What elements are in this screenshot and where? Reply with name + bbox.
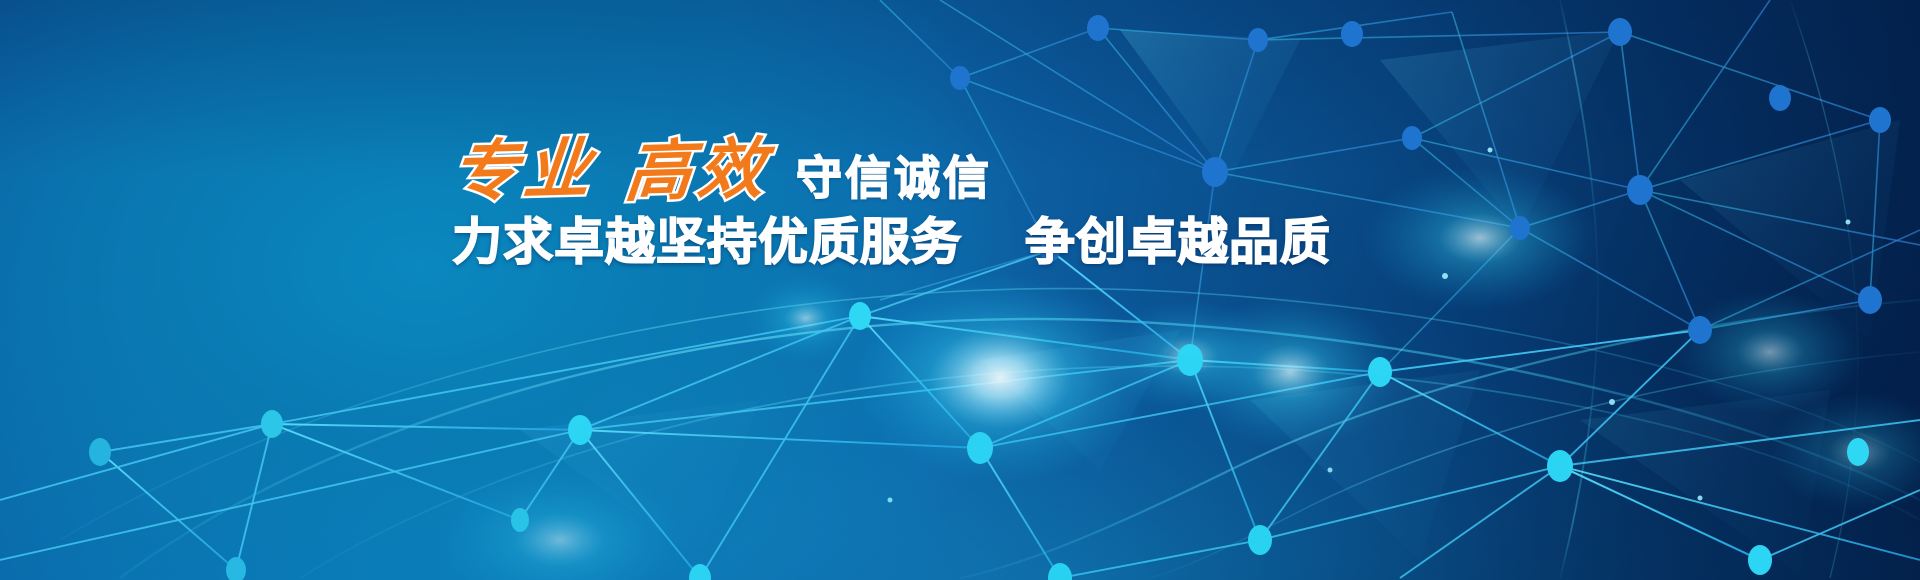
headline-line-2-part-2: 争创卓越品质 xyxy=(1025,213,1331,271)
headline-accent-word-2: 高效 xyxy=(622,134,773,207)
hero-banner: 专业 高效 守信诚信 力求卓越坚持优质服务 争创卓越品质 xyxy=(0,0,1920,580)
headline-block: 专业 高效 守信诚信 力求卓越坚持优质服务 争创卓越品质 xyxy=(452,136,1152,267)
headline-white-word: 守信诚信 xyxy=(796,155,992,201)
background-bottom-glow xyxy=(0,0,1920,580)
headline-accent-word-1: 专业 xyxy=(448,134,599,207)
headline-line-2: 力求卓越坚持优质服务 争创卓越品质 xyxy=(452,217,1152,267)
headline-line-2-part-1: 力求卓越坚持优质服务 xyxy=(452,213,962,271)
headline-line-1: 专业 高效 守信诚信 xyxy=(452,136,1152,205)
